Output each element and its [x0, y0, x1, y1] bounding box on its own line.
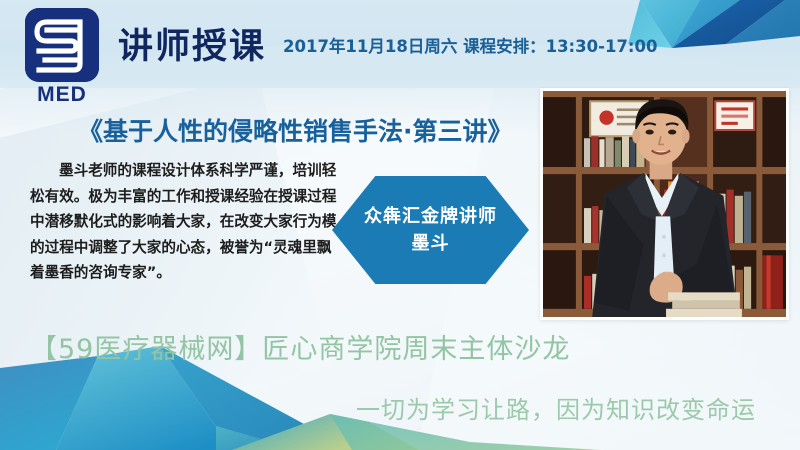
instructor-bio: 墨斗老师的课程设计体系科学严谨，培训轻松有效。极为丰富的工作和授课经验在授课过程… [30, 158, 346, 286]
portrait-illustration-icon [543, 91, 786, 317]
organizer-line: 【59医疗器械网】匠心商学院周末主体沙龙 [30, 327, 570, 366]
logo[interactable]: MED [14, 8, 110, 107]
tagline: 一切为学习让路，因为知识改变命运 [356, 390, 756, 425]
badge-line-1: 众犇汇金牌讲师 [364, 203, 497, 230]
logo-glyph-icon [25, 8, 99, 82]
page-title: 《基于人性的侵略性销售手法·第三讲》 [78, 112, 513, 148]
instructor-photo-frame [540, 88, 789, 320]
slide-canvas: MED 讲师授课 2017年11月18日周六 课程安排：13:30-17:00 … [0, 0, 800, 450]
logo-wordmark: MED [14, 83, 110, 107]
s-med-logo-icon [25, 8, 99, 82]
schedule-text: 2017年11月18日周六 课程安排：13:30-17:00 [283, 33, 657, 57]
badge-line-2: 墨斗 [412, 230, 450, 257]
brand-title: 讲师授课 [118, 18, 266, 69]
instructor-portrait [543, 91, 786, 317]
